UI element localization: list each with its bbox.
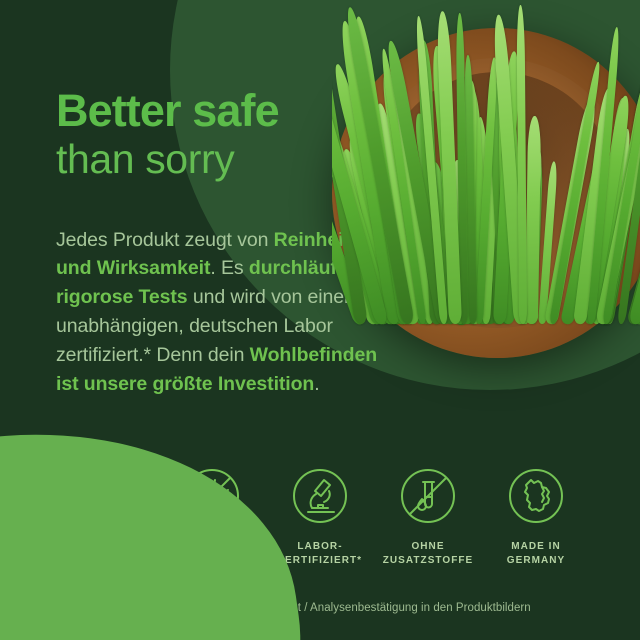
trust-badge-no-test-tube: OHNE ZUSATZSTOFFE xyxy=(380,466,476,568)
microscope-icon xyxy=(290,466,350,526)
trust-badge-label: LABOR- ZERTIFIZIERT* xyxy=(278,540,362,568)
promo-banner: Better safe than sorry Jedes Produkt zeu… xyxy=(0,0,640,640)
headline-line-2: than sorry xyxy=(56,138,279,181)
no-test-tube-icon xyxy=(398,466,458,526)
trust-badge-microscope: LABOR- ZERTIFIZIERT* xyxy=(272,466,368,568)
body-text: . xyxy=(314,373,319,395)
body-text: . Es xyxy=(210,257,249,279)
body-text: Jedes Produkt zeugt von xyxy=(56,229,274,251)
grass-blade xyxy=(525,116,541,325)
headline-line-1: Better safe xyxy=(56,88,279,135)
trust-badge-label: MADE IN GERMANY xyxy=(507,540,565,568)
germany-map-icon xyxy=(506,466,566,526)
trust-badge-germany-map: MADE IN GERMANY xyxy=(488,466,584,568)
page-title: Better safe than sorry xyxy=(56,88,279,180)
trust-badge-label: OHNE ZUSATZSTOFFE xyxy=(383,540,474,568)
